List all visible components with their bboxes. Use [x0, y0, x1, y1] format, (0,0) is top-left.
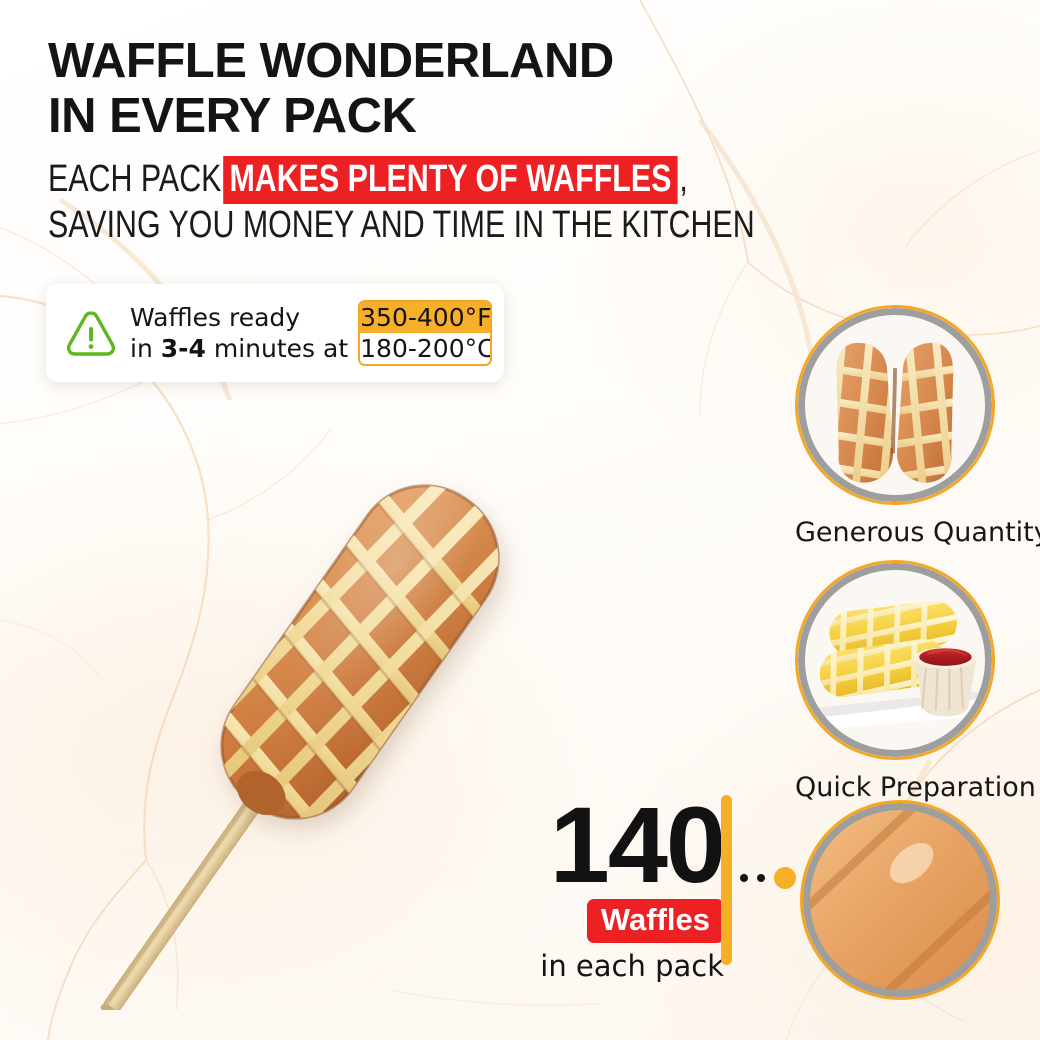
cooking-info-line-2: in 3-4 minutes at — [130, 333, 348, 364]
feature-waffle-closeup[interactable] — [800, 800, 1000, 1000]
dot-small-1 — [740, 874, 748, 882]
subheadline: EACH PACKMAKES PLENTY OF WAFFLES, SAVING… — [48, 156, 931, 248]
dot-large — [774, 867, 796, 889]
count-subtitle: in each pack — [520, 949, 730, 983]
feature-generous-quantity[interactable]: Generous Quantity — [795, 305, 995, 548]
vertical-divider-bar — [721, 795, 732, 965]
cooking-time-prefix: in — [130, 334, 161, 363]
cooking-info-card: Waffles ready in 3-4 minutes at 350-400°… — [46, 284, 504, 382]
temperature-celsius: 180-200°C — [360, 333, 490, 364]
temperature-badge-group: 350-400°F 180-200°C — [358, 300, 492, 366]
subheadline-text-after: , — [679, 158, 687, 200]
cooking-time-suffix: minutes at — [206, 334, 348, 363]
dot-sequence — [740, 867, 796, 889]
dot-small-2 — [757, 874, 765, 882]
subheadline-line-2: SAVING YOU MONEY AND TIME IN THE KITCHEN — [48, 202, 755, 248]
cooking-time-value: 3-4 — [161, 334, 206, 363]
feature-image-circle — [795, 560, 995, 760]
subheadline-text-before: EACH PACK — [48, 158, 221, 200]
waffle-sticks-closeup-icon — [803, 803, 997, 997]
count-number: 140 — [520, 795, 730, 895]
feature-quick-preparation[interactable]: Quick Preparation — [795, 560, 995, 803]
poster-canvas: WAFFLE WONDERLAND IN EVERY PACK EACH PAC… — [0, 0, 1040, 1040]
count-badge: Waffles — [587, 899, 724, 943]
two-waffle-sticks-upright-icon — [798, 308, 992, 502]
feature-image-circle — [795, 305, 995, 505]
page-title: WAFFLE WONDERLAND IN EVERY PACK — [48, 34, 614, 144]
cooking-info-line-1: Waffles ready — [130, 302, 348, 333]
subheadline-highlight: MAKES PLENTY OF WAFFLES — [223, 156, 678, 204]
waffle-sticks-with-ketchup-dip-icon — [798, 563, 992, 757]
feature-image-circle — [800, 800, 1000, 1000]
subheadline-line-1: EACH PACKMAKES PLENTY OF WAFFLES, — [48, 156, 755, 202]
count-callout: 140 Waffles in each pack — [520, 795, 730, 983]
feature-label: Quick Preparation — [795, 772, 995, 803]
cooking-info-text: Waffles ready in 3-4 minutes at — [130, 302, 348, 364]
feature-label: Generous Quantity — [795, 517, 995, 548]
warning-triangle-icon — [64, 306, 118, 360]
count-badge-row: Waffles — [520, 899, 730, 943]
temperature-fahrenheit: 350-400°F — [360, 302, 490, 333]
